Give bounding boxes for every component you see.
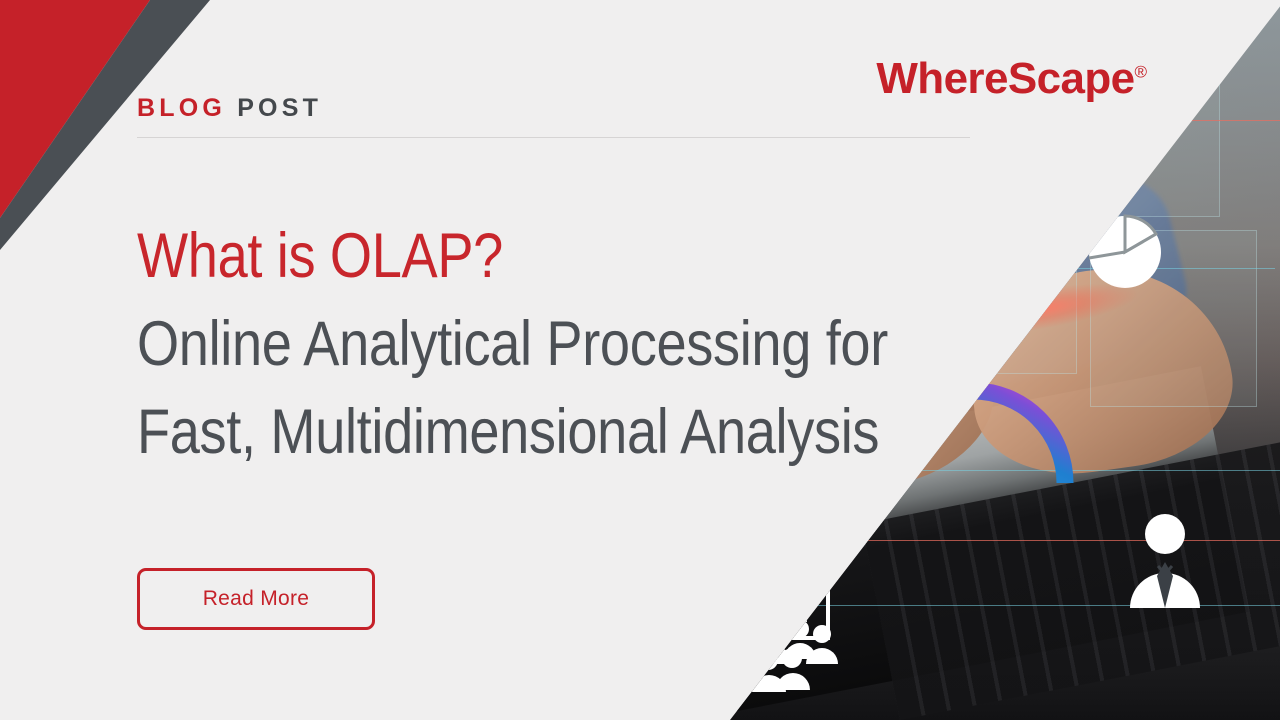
page-title: What is OLAP? xyxy=(137,212,851,300)
blog-post-banner: BLOG POST WhereScape® What is OLAP? Onli… xyxy=(0,0,1280,720)
registered-trademark-icon: ® xyxy=(1134,62,1147,81)
header-divider xyxy=(137,137,970,138)
logo-wordmark: WhereScape xyxy=(876,54,1134,103)
kicker-secondary: POST xyxy=(237,94,322,122)
kicker-label: BLOG POST xyxy=(137,96,322,121)
subtitle-line-1: Online Analytical Processing for xyxy=(137,300,851,388)
corner-red-triangle xyxy=(0,0,150,218)
people-group-icon xyxy=(752,616,847,696)
kicker-primary: BLOG xyxy=(137,94,226,122)
subtitle-line-2: Fast, Multidimensional Analysis xyxy=(137,388,851,476)
business-person-icon xyxy=(1120,510,1210,610)
read-more-label: Read More xyxy=(203,587,310,611)
headline-block: What is OLAP? Online Analytical Processi… xyxy=(137,212,967,476)
read-more-button[interactable]: Read More xyxy=(137,568,375,630)
hud-scanline-red-1 xyxy=(960,120,1280,121)
wherescape-logo: WhereScape® xyxy=(876,57,1147,101)
